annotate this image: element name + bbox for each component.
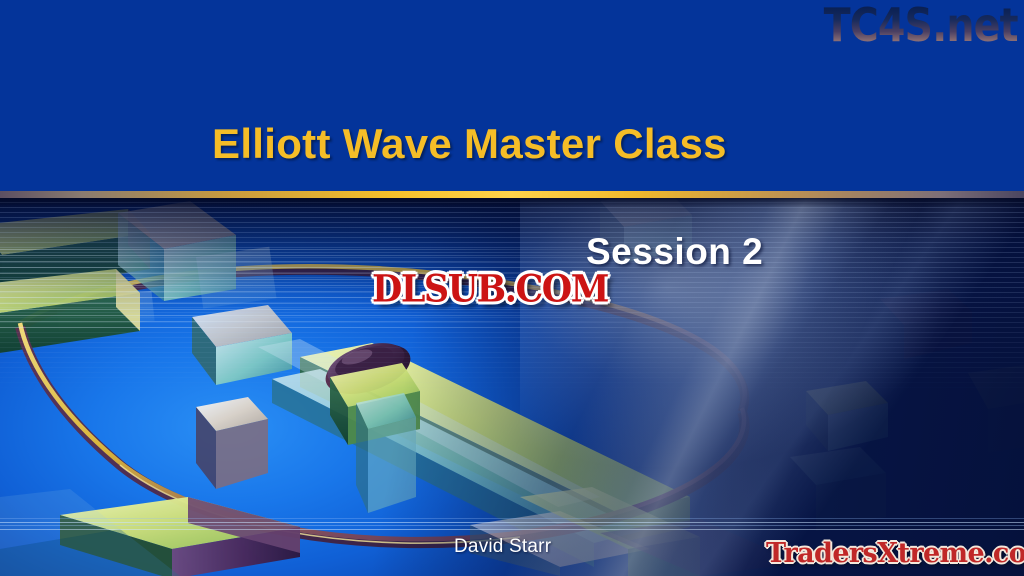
divider-shadow — [0, 198, 1024, 208]
watermark-tc4s: TC4S.net — [824, 0, 1018, 52]
session-label: Session 2 — [586, 231, 763, 273]
watermark-tradersxtreme: TradersXtreme.com — [766, 538, 1024, 569]
presentation-slide: Elliott Wave Master Class Session 2 Davi… — [0, 0, 1024, 576]
background-artwork — [0, 197, 1024, 576]
watermark-dlsub: DLSUB.COM — [372, 267, 608, 311]
page-title: Elliott Wave Master Class — [212, 120, 727, 168]
gold-divider-line — [0, 191, 1024, 198]
presenter-name: David Starr — [454, 536, 551, 558]
